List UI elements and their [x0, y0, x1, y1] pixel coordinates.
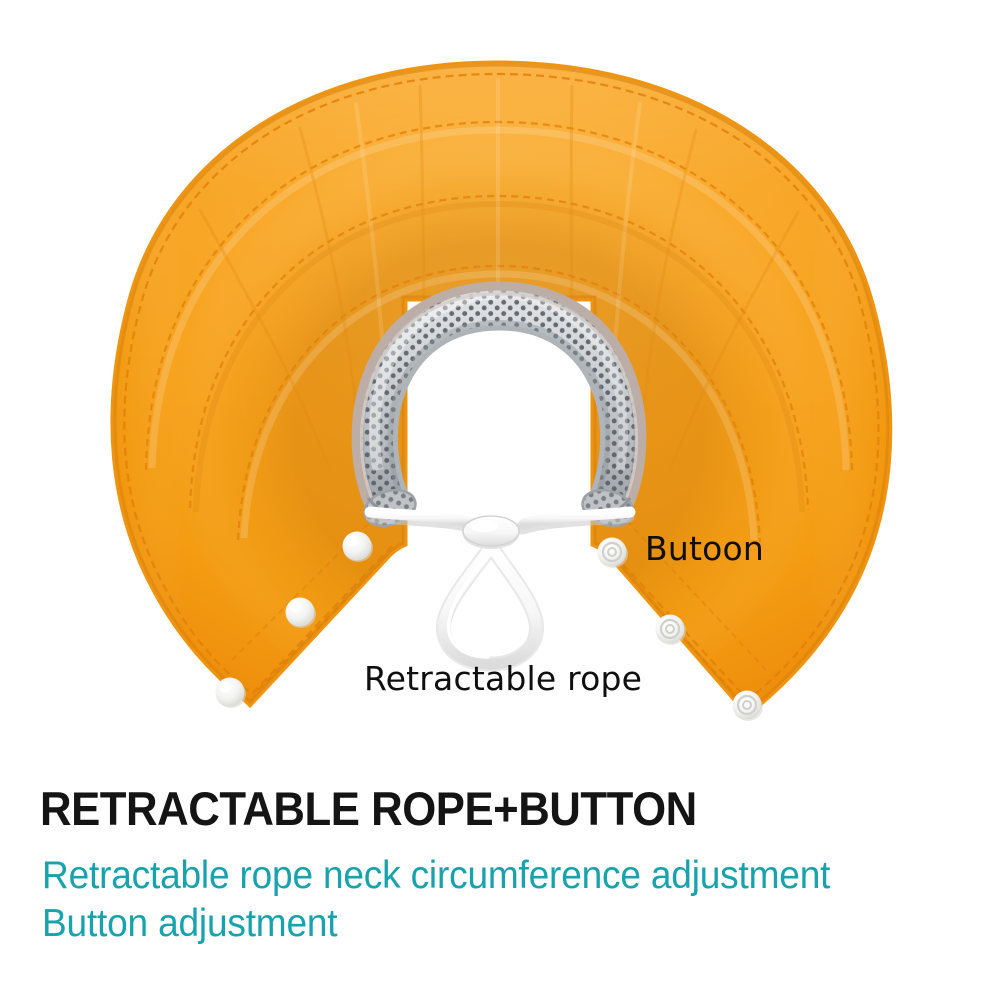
- collar-illustration: [0, 0, 1000, 760]
- caption-subtitle-line-2: Button adjustment: [42, 900, 830, 948]
- caption-subtitle-line-1: Retractable rope neck circumference adju…: [42, 852, 830, 900]
- caption-subtitle: Retractable rope neck circumference adju…: [42, 852, 830, 948]
- collar-body: [0, 0, 1000, 740]
- caption-block: RETRACTABLE ROPE+BUTTON Retractable rope…: [0, 760, 1000, 1000]
- product-photo: Butoon Retractable rope: [0, 0, 1000, 760]
- product-image-page: Butoon Retractable rope RETRACTABLE ROPE…: [0, 0, 1000, 1000]
- callout-label-retractable-rope: Retractable rope: [364, 660, 642, 698]
- caption-headline: RETRACTABLE ROPE+BUTTON: [40, 782, 697, 836]
- callout-label-button: Butoon: [645, 530, 764, 568]
